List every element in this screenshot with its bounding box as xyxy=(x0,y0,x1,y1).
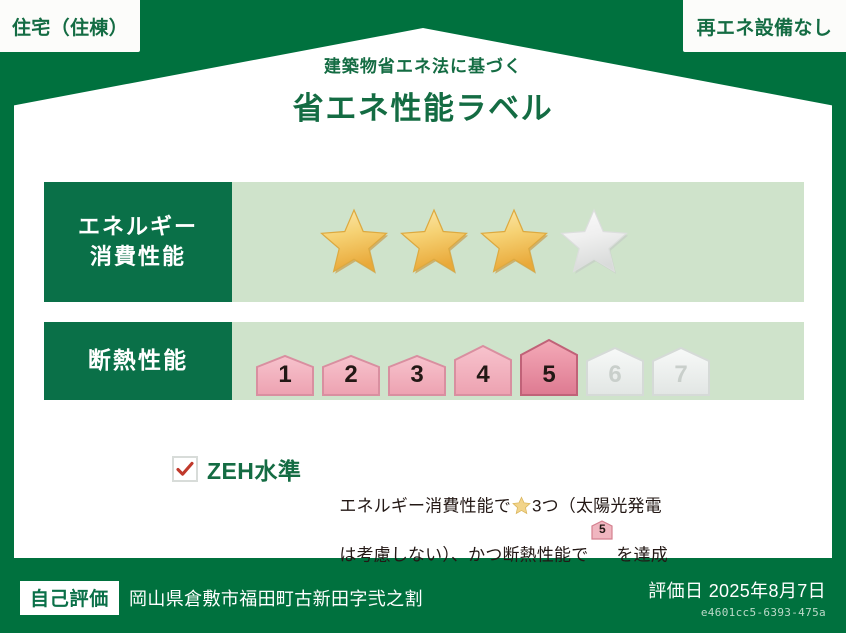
star-icon xyxy=(512,469,531,488)
zeh-section: ZEH水準 エネルギー消費性能で 3つ（太陽光発電は考慮しない）、かつ断熱性能で… xyxy=(44,443,802,569)
insulation-level-badge: 3 xyxy=(386,354,448,396)
label-header: 建築物省エネ法に基づく 省エネ性能ラベル xyxy=(0,52,846,128)
insulation-level-badge: 5 xyxy=(518,338,580,396)
energy-performance-row: エネルギー 消費性能 xyxy=(44,182,804,302)
star-icon-filled xyxy=(398,207,470,277)
tab-renewable-energy[interactable]: 再エネ設備なし xyxy=(683,0,846,52)
energy-row-body xyxy=(232,182,804,302)
insulation-level-badge: 6 xyxy=(584,346,646,396)
insulation-level-scale: 1234567 xyxy=(232,318,712,404)
insulation-level-badge: 7 xyxy=(650,346,712,396)
zeh-desc-part2: 3つ（太陽光発電 xyxy=(532,497,662,516)
insulation-row-body: 1234567 xyxy=(232,322,804,400)
insulation-row-label: 断熱性能 xyxy=(44,322,232,400)
property-address: 岡山県倉敷市福田町古新田字弐之割 xyxy=(129,585,423,611)
star-icon-filled xyxy=(318,207,390,277)
energy-performance-label: 住宅（住棟） 再エネ設備なし 建築物省エネ法に基づく 省エネ性能ラベル エネルギ… xyxy=(0,0,846,633)
insulation-badge-icon: 5 xyxy=(590,520,614,540)
footer-left: 自己評価 岡山県倉敷市福田町古新田字弐之割 xyxy=(20,581,423,615)
header-subtitle: 建築物省エネ法に基づく xyxy=(0,52,846,77)
zeh-description: エネルギー消費性能で 3つ（太陽光発電は考慮しない）、かつ断熱性能で 5を達成 xyxy=(339,443,668,569)
evaluation-type-badge: 自己評価 xyxy=(20,581,119,615)
energy-label-line2: 消費性能 xyxy=(90,242,186,272)
energy-label-line1: エネルギー xyxy=(78,212,198,242)
insulation-performance-row: 断熱性能 1234567 xyxy=(44,322,804,400)
zeh-desc-badge-num: 5 xyxy=(590,520,614,539)
tab-building-type[interactable]: 住宅（住棟） xyxy=(0,0,140,52)
evaluation-date-label: 評価日 xyxy=(648,581,703,601)
star-icon-filled xyxy=(478,207,550,277)
performance-rows: エネルギー 消費性能 断熱性能 1234567 xyxy=(44,182,804,400)
page-title: 省エネ性能ラベル xyxy=(0,83,846,128)
insulation-level-badge: 4 xyxy=(452,344,514,396)
zeh-standard-label: ZEH水準 xyxy=(207,452,301,486)
star-icon-empty xyxy=(558,207,630,277)
zeh-desc-part1: エネルギー消費性能で xyxy=(339,497,511,516)
footer-right: 評価日 2025年8月7日 e4601cc5-6393-475a xyxy=(648,577,826,619)
zeh-checkbox[interactable] xyxy=(172,456,198,482)
evaluation-id: e4601cc5-6393-475a xyxy=(648,606,826,619)
check-icon xyxy=(175,459,195,479)
insulation-label-text: 断熱性能 xyxy=(88,345,188,376)
energy-row-label: エネルギー 消費性能 xyxy=(44,182,232,302)
star-rating xyxy=(232,207,630,277)
evaluation-date: 評価日 2025年8月7日 xyxy=(648,577,826,603)
insulation-level-badge: 2 xyxy=(320,354,382,396)
insulation-level-badge: 1 xyxy=(254,354,316,396)
zeh-mark: ZEH水準 xyxy=(44,443,301,486)
evaluation-date-value: 2025年8月7日 xyxy=(709,581,826,601)
label-footer: 自己評価 岡山県倉敷市福田町古新田字弐之割 評価日 2025年8月7日 e460… xyxy=(0,561,846,633)
